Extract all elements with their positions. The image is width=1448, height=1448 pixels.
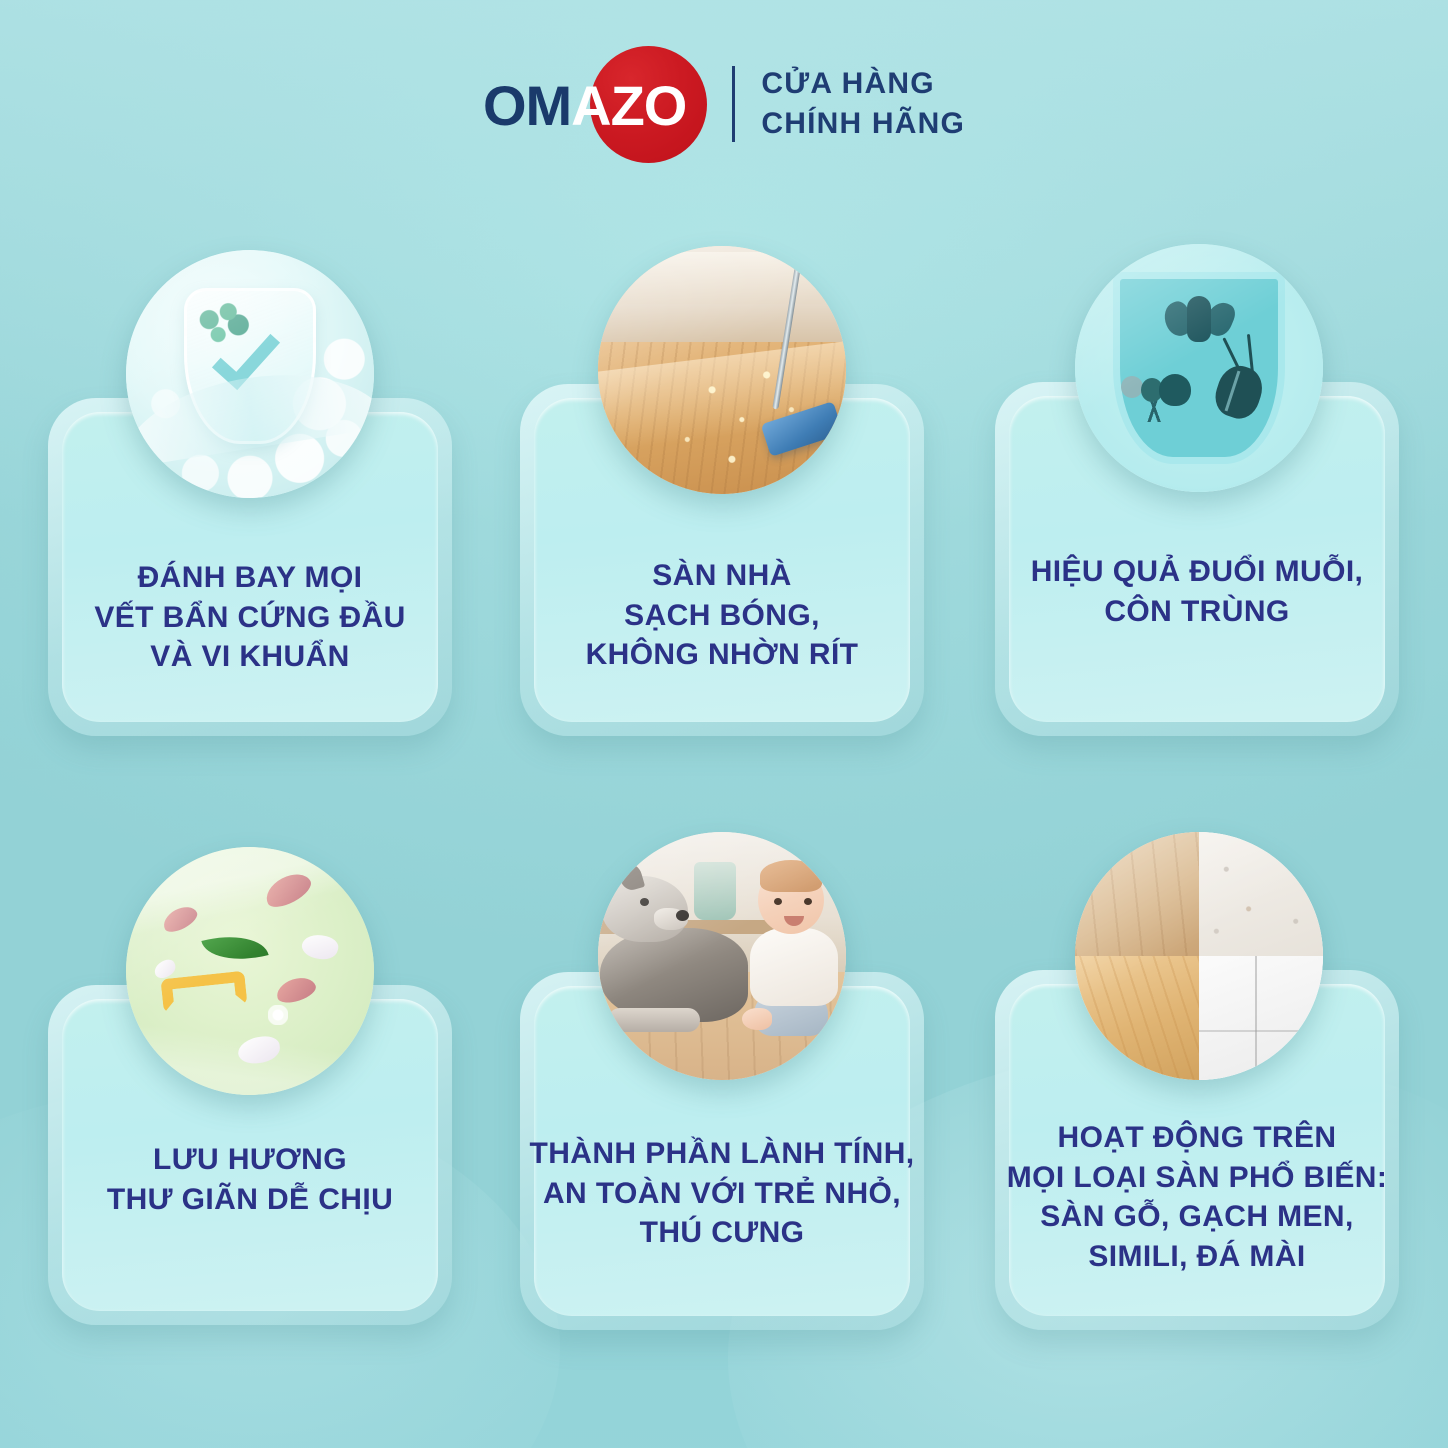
brand-tagline-line1: CỬA HÀNG <box>761 64 965 104</box>
brand-tagline-line2: CHÍNH HÃNG <box>761 104 965 144</box>
brand-wordmark: OMAZO <box>483 74 686 134</box>
brand-wordmark-dark: OM <box>483 74 571 137</box>
feature-grid: ĐÁNH BAY MỌI VẾT BẨN CỨNG ĐẦU VÀ VI KHUẨ… <box>0 0 1448 1448</box>
brand-tagline: CỬA HÀNG CHÍNH HÃNG <box>761 64 965 144</box>
feature-label: HIỆU QUẢ ĐUỔI MUỖI, CÔN TRÙNG <box>995 552 1399 631</box>
feature-label: LƯU HƯƠNG THƯ GIÃN DỄ CHỊU <box>48 1140 452 1219</box>
fly-icon <box>1167 288 1231 350</box>
shield-check-bubbles-image <box>126 250 374 498</box>
cockroach-icon <box>1203 348 1281 430</box>
feature-label: SÀN NHÀ SẠCH BÓNG, KHÔNG NHỜN RÍT <box>520 556 924 675</box>
feature-label: THÀNH PHẦN LÀNH TÍNH, AN TOÀN VỚI TRẺ NH… <box>520 1134 924 1253</box>
feature-label: HOẠT ĐỘNG TRÊN MỌI LOẠI SÀN PHỔ BIẾN: SÀ… <box>995 1118 1399 1276</box>
brand-wordmark-light: AZO <box>571 74 686 137</box>
logo-divider <box>732 66 735 142</box>
feature-label: ĐÁNH BAY MỌI VẾT BẨN CỨNG ĐẦU VÀ VI KHUẨ… <box>48 558 452 677</box>
ant-icon <box>1119 362 1195 424</box>
floor-types-quadrant-image <box>1075 832 1323 1080</box>
botanical-scent-image <box>126 847 374 1095</box>
mop-wooden-floor-image <box>598 246 846 494</box>
shield-insects-image <box>1075 244 1323 492</box>
dog-and-baby-image <box>598 832 846 1080</box>
